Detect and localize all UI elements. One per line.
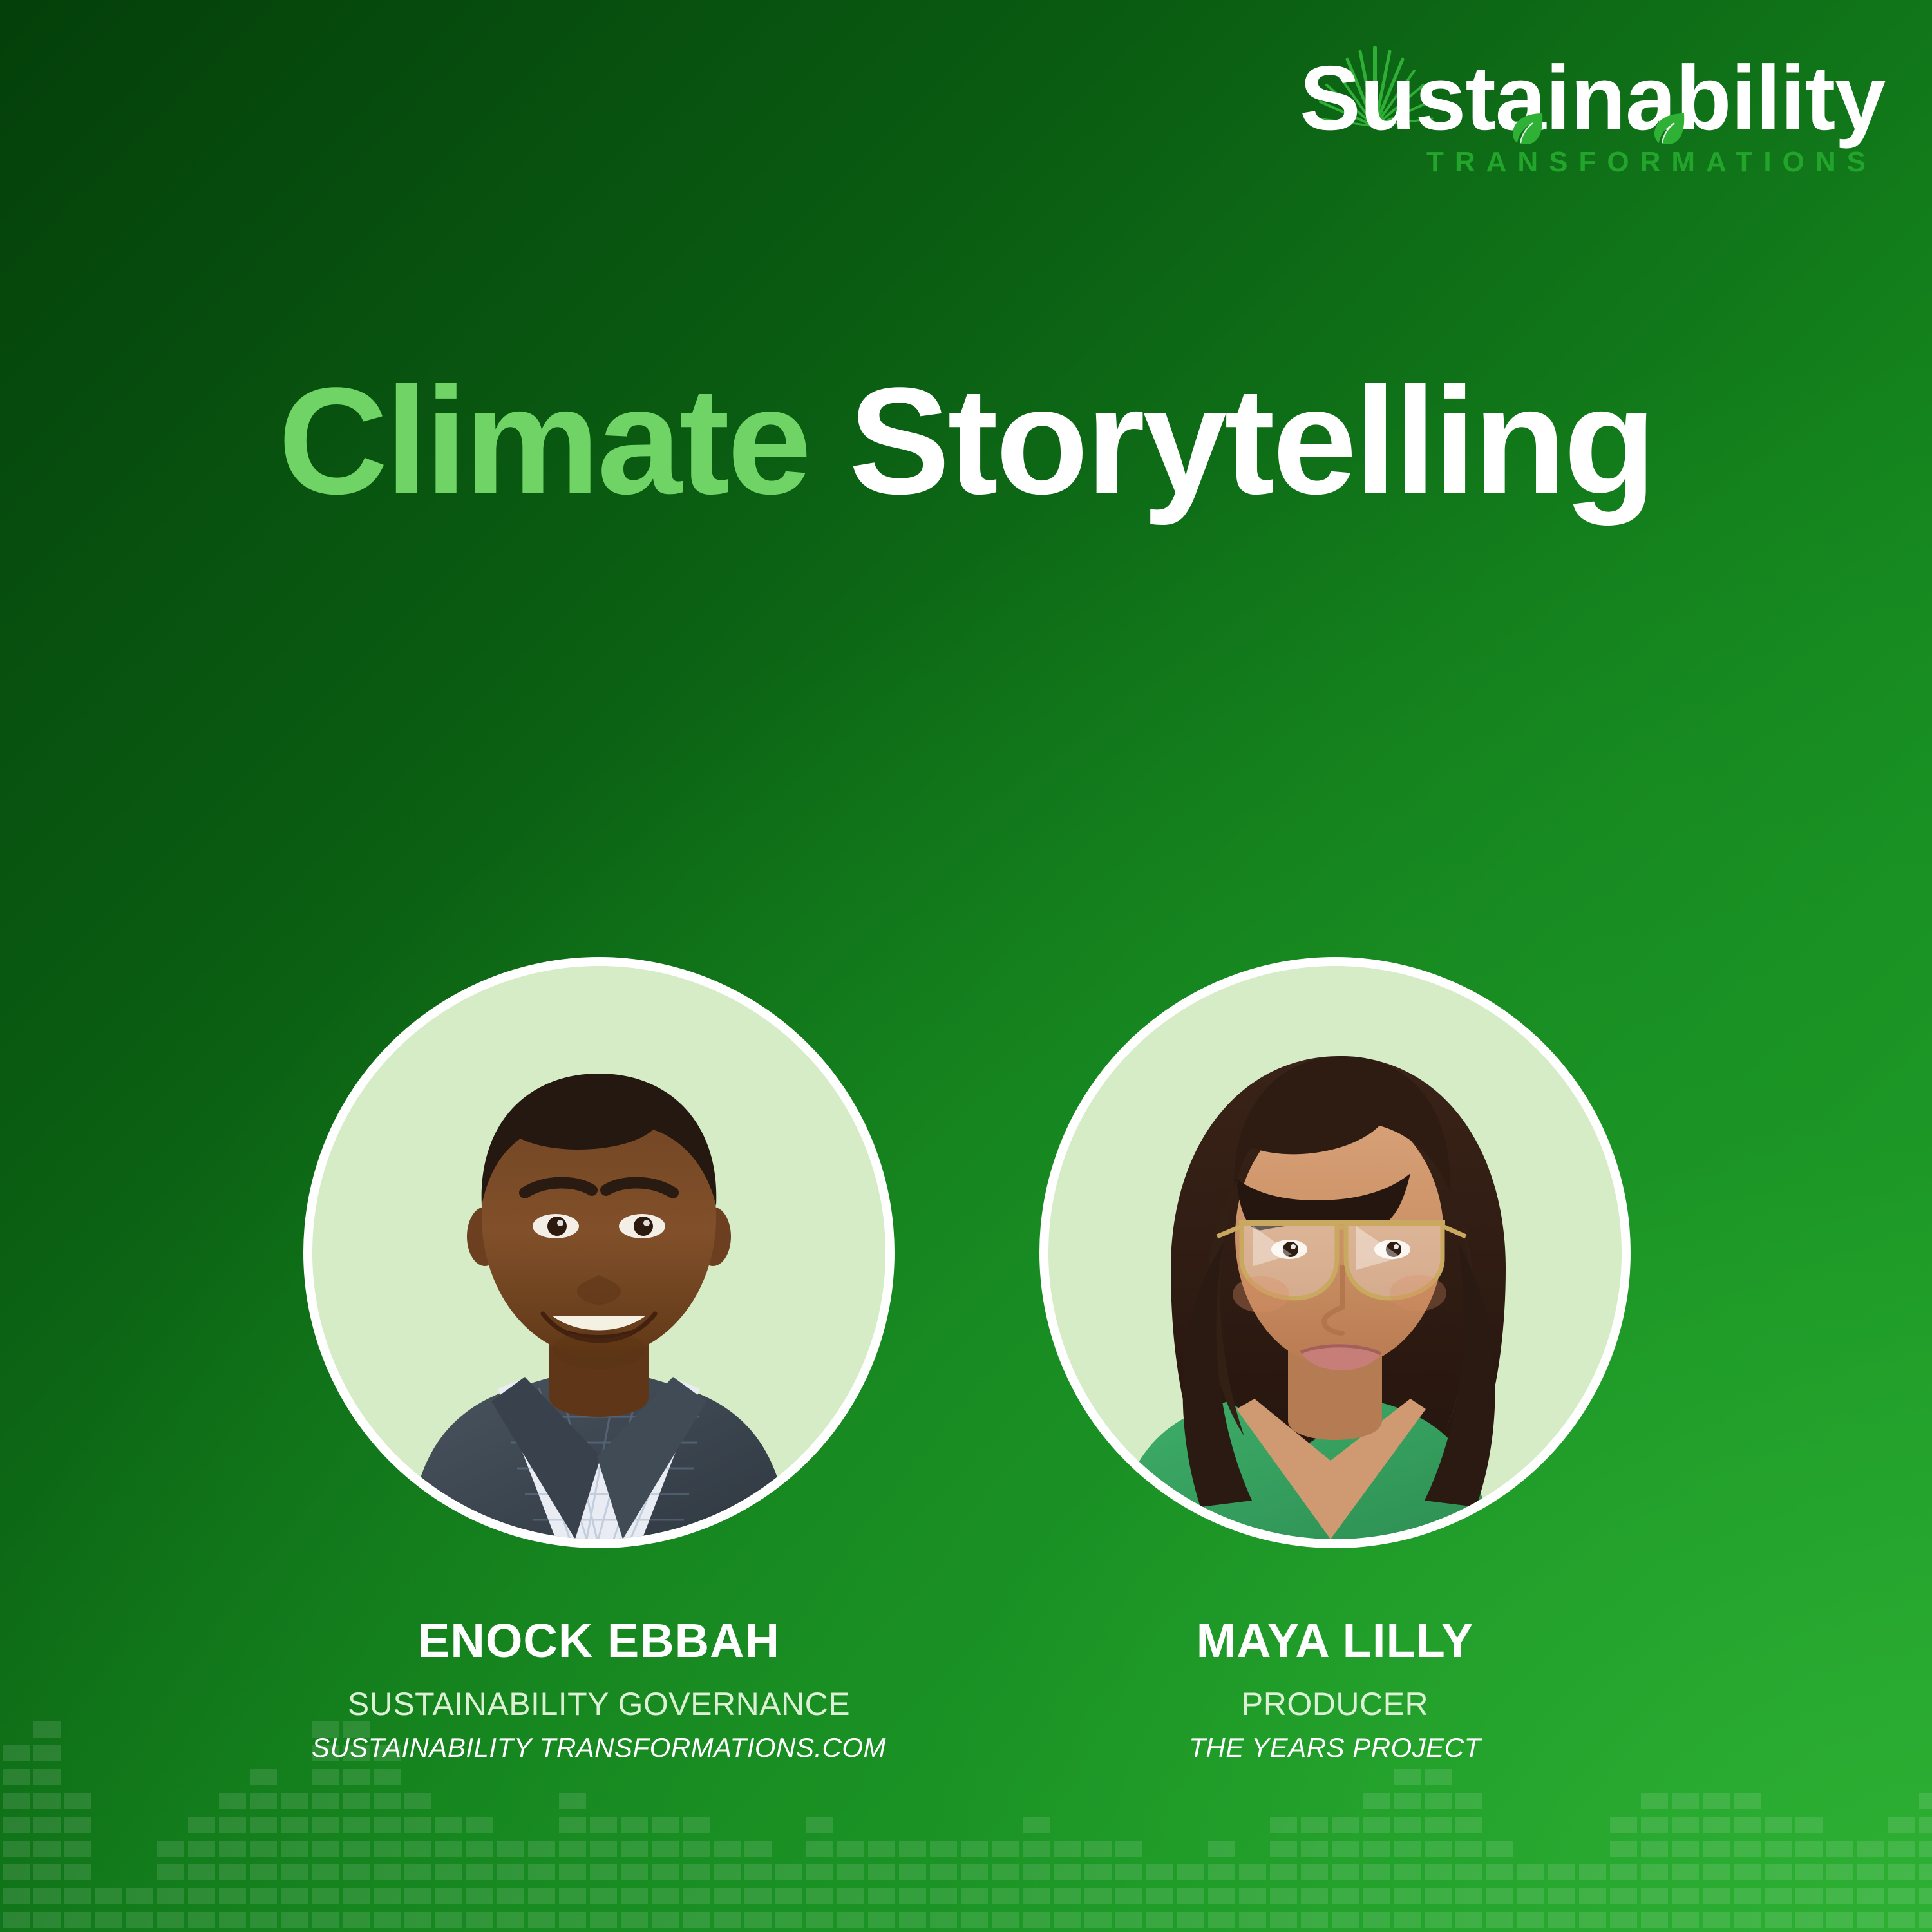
pixel-cell bbox=[1765, 1888, 1792, 1904]
pixel-cell bbox=[837, 1912, 864, 1928]
pixel-cell bbox=[1455, 1864, 1482, 1880]
pixel-cell bbox=[1394, 1769, 1421, 1785]
pixel-cell bbox=[961, 1912, 988, 1928]
pixel-cell bbox=[1826, 1912, 1853, 1928]
poster-canvas: Sustainability TRANSFORMATIONS Climate S… bbox=[0, 0, 1932, 1932]
pixel-cell bbox=[1425, 1793, 1452, 1809]
pixel-cell bbox=[188, 1912, 215, 1928]
pixel-cell bbox=[1425, 1817, 1452, 1833]
pixel-cell bbox=[1703, 1793, 1730, 1809]
title-accent-word: Climate bbox=[278, 356, 810, 526]
pixel-cell bbox=[1703, 1864, 1730, 1880]
pixel-cell bbox=[590, 1864, 617, 1880]
pixel-cell bbox=[404, 1864, 431, 1880]
pixel-cell bbox=[1363, 1912, 1390, 1928]
pixel-cell bbox=[1394, 1888, 1421, 1904]
pixel-cell bbox=[1672, 1793, 1699, 1809]
pixel-cell bbox=[1888, 1888, 1915, 1904]
pixel-cell bbox=[1672, 1888, 1699, 1904]
pixel-cell bbox=[1919, 1912, 1932, 1928]
pixel-cell bbox=[1208, 1888, 1235, 1904]
logo-wordmark: Sustainability bbox=[1300, 50, 1879, 147]
pixel-cell bbox=[1332, 1864, 1359, 1880]
pixel-cell bbox=[1455, 1912, 1482, 1928]
pixel-cell bbox=[1641, 1793, 1668, 1809]
pixel-cell bbox=[1548, 1888, 1575, 1904]
pixel-cell bbox=[1672, 1817, 1699, 1833]
pixel-cell bbox=[1641, 1841, 1668, 1857]
pixel-cell bbox=[281, 1793, 308, 1809]
pixel-cell bbox=[33, 1888, 61, 1904]
pixel-cell bbox=[1672, 1841, 1699, 1857]
pixel-cell bbox=[1425, 1864, 1452, 1880]
pixel-cell bbox=[1641, 1817, 1668, 1833]
pixel-cell bbox=[281, 1841, 308, 1857]
pixel-cell bbox=[1857, 1912, 1884, 1928]
pixel-cell bbox=[1857, 1841, 1884, 1857]
pixel-cell bbox=[33, 1793, 61, 1809]
pixel-cell bbox=[404, 1888, 431, 1904]
pixel-cell bbox=[126, 1912, 153, 1928]
pixel-cell bbox=[1023, 1817, 1050, 1833]
speaker-role: SUSTAINABILITY GOVERNANCE bbox=[277, 1686, 921, 1722]
pixel-cell bbox=[714, 1841, 741, 1857]
pixel-cell bbox=[1919, 1864, 1932, 1880]
pixel-cell bbox=[652, 1817, 679, 1833]
pixel-cell bbox=[992, 1912, 1019, 1928]
pixel-cell bbox=[1394, 1841, 1421, 1857]
pixel-cell bbox=[157, 1888, 184, 1904]
pixel-cell bbox=[930, 1912, 957, 1928]
pixel-cell bbox=[961, 1888, 988, 1904]
pixel-cell bbox=[1455, 1841, 1482, 1857]
title-plain-word: Storytelling bbox=[849, 356, 1654, 526]
pixel-cell bbox=[1363, 1817, 1390, 1833]
pixel-cell bbox=[1486, 1841, 1513, 1857]
pixel-cell bbox=[1270, 1888, 1297, 1904]
pixel-bar-pattern bbox=[0, 1719, 1932, 1932]
logo-subtitle: TRANSFORMATIONS bbox=[1300, 147, 1879, 178]
pixel-cell bbox=[1734, 1841, 1761, 1857]
pixel-cell bbox=[1919, 1817, 1932, 1833]
pixel-cell bbox=[33, 1841, 61, 1857]
pixel-cell bbox=[1208, 1912, 1235, 1928]
pixel-cell bbox=[374, 1912, 401, 1928]
avatar bbox=[312, 966, 885, 1539]
pixel-cell bbox=[1888, 1817, 1915, 1833]
pixel-cell bbox=[992, 1864, 1019, 1880]
pixel-cell bbox=[837, 1841, 864, 1857]
pixel-cell bbox=[652, 1864, 679, 1880]
pixel-cell bbox=[1301, 1912, 1328, 1928]
pixel-cell bbox=[1023, 1841, 1050, 1857]
pixel-cell bbox=[1023, 1912, 1050, 1928]
pixel-cell bbox=[621, 1841, 648, 1857]
pixel-cell bbox=[744, 1841, 772, 1857]
pixel-cell bbox=[961, 1841, 988, 1857]
pixel-cell bbox=[1239, 1864, 1266, 1880]
pixel-cell bbox=[1363, 1888, 1390, 1904]
pixel-cell bbox=[837, 1864, 864, 1880]
speaker-name: MAYA LILLY bbox=[1013, 1615, 1657, 1667]
pixel-cell bbox=[1115, 1841, 1142, 1857]
pixel-cell bbox=[1734, 1888, 1761, 1904]
speaker-card: MAYA LILLY PRODUCER THE YEARS PROJECT bbox=[1013, 966, 1657, 1763]
pixel-cell bbox=[1795, 1864, 1823, 1880]
pixel-cell bbox=[744, 1888, 772, 1904]
pixel-cell bbox=[250, 1864, 277, 1880]
pixel-cell bbox=[343, 1912, 370, 1928]
pixel-cell bbox=[1455, 1793, 1482, 1809]
pixel-cell bbox=[868, 1888, 895, 1904]
pixel-cell bbox=[1239, 1912, 1266, 1928]
pixel-cell bbox=[1394, 1817, 1421, 1833]
pixel-cell bbox=[683, 1841, 710, 1857]
pixel-cell bbox=[1208, 1841, 1235, 1857]
pixel-cell bbox=[683, 1864, 710, 1880]
pixel-cell bbox=[1765, 1912, 1792, 1928]
pixel-cell bbox=[64, 1888, 91, 1904]
pixel-cell bbox=[312, 1769, 339, 1785]
pixel-cell bbox=[621, 1912, 648, 1928]
pixel-cell bbox=[33, 1912, 61, 1928]
pixel-cell bbox=[1115, 1912, 1142, 1928]
speaker-name: ENOCK EBBAH bbox=[277, 1615, 921, 1667]
pixel-cell bbox=[1703, 1912, 1730, 1928]
pixel-cell bbox=[95, 1888, 122, 1904]
pixel-cell bbox=[466, 1912, 493, 1928]
pixel-cell bbox=[559, 1841, 586, 1857]
pixel-cell bbox=[374, 1745, 401, 1761]
pixel-cell bbox=[1332, 1912, 1359, 1928]
pixel-cell bbox=[1919, 1793, 1932, 1809]
pixel-cell bbox=[435, 1888, 462, 1904]
pixel-cell bbox=[899, 1888, 926, 1904]
pixel-cell bbox=[3, 1745, 30, 1761]
pixel-cell bbox=[1641, 1888, 1668, 1904]
pixel-cell bbox=[1332, 1841, 1359, 1857]
pixel-cell bbox=[1641, 1912, 1668, 1928]
pixel-cell bbox=[64, 1864, 91, 1880]
pixel-cell bbox=[466, 1841, 493, 1857]
pixel-cell bbox=[343, 1745, 370, 1761]
pixel-cell bbox=[590, 1888, 617, 1904]
pixel-cell bbox=[188, 1841, 215, 1857]
pixel-cell bbox=[312, 1912, 339, 1928]
speaker-photo-maya-lilly bbox=[1048, 966, 1622, 1539]
pixel-cell bbox=[312, 1745, 339, 1761]
pixel-cell bbox=[343, 1721, 370, 1738]
pixel-cell bbox=[1548, 1912, 1575, 1928]
pixel-cell bbox=[1177, 1864, 1204, 1880]
pixel-cell bbox=[1734, 1912, 1761, 1928]
pixel-cell bbox=[1115, 1864, 1142, 1880]
pixel-cell bbox=[1486, 1864, 1513, 1880]
pixel-cell bbox=[281, 1864, 308, 1880]
pixel-cell bbox=[404, 1841, 431, 1857]
pixel-cell bbox=[930, 1888, 957, 1904]
pixel-cell bbox=[3, 1888, 30, 1904]
pixel-cell bbox=[1888, 1841, 1915, 1857]
pixel-cell bbox=[806, 1841, 833, 1857]
pixel-cell bbox=[1826, 1841, 1853, 1857]
pixel-cell bbox=[1795, 1912, 1823, 1928]
pixel-cell bbox=[1084, 1841, 1112, 1857]
page-title: Climate Storytelling bbox=[0, 361, 1932, 522]
pixel-cell bbox=[64, 1817, 91, 1833]
pixel-cell bbox=[559, 1864, 586, 1880]
pixel-cell bbox=[621, 1817, 648, 1833]
pixel-cell bbox=[621, 1888, 648, 1904]
pixel-cell bbox=[1301, 1841, 1328, 1857]
pixel-cell bbox=[374, 1769, 401, 1785]
speaker-card: ENOCK EBBAH SUSTAINABILITY GOVERNANCE SU… bbox=[277, 966, 921, 1763]
pixel-cell bbox=[466, 1864, 493, 1880]
pixel-cell bbox=[219, 1841, 246, 1857]
pixel-cell bbox=[1610, 1888, 1637, 1904]
pixel-cell bbox=[1795, 1888, 1823, 1904]
pixel-cell bbox=[343, 1841, 370, 1857]
pixel-cell bbox=[1363, 1793, 1390, 1809]
pixel-cell bbox=[1734, 1793, 1761, 1809]
pixel-cell bbox=[1146, 1888, 1173, 1904]
pixel-cell bbox=[744, 1864, 772, 1880]
speaker-photo-enock-ebbah bbox=[312, 966, 885, 1539]
pixel-cell bbox=[1703, 1817, 1730, 1833]
pixel-cell bbox=[1023, 1888, 1050, 1904]
pixel-cell bbox=[590, 1912, 617, 1928]
pixel-cell bbox=[528, 1864, 555, 1880]
pixel-cell bbox=[126, 1888, 153, 1904]
pixel-cell bbox=[312, 1888, 339, 1904]
pixel-cell bbox=[868, 1841, 895, 1857]
pixel-cell bbox=[559, 1888, 586, 1904]
speaker-role: PRODUCER bbox=[1013, 1686, 1657, 1722]
pixel-cell bbox=[559, 1817, 586, 1833]
pixel-cell bbox=[33, 1721, 61, 1738]
pixel-cell bbox=[1610, 1817, 1637, 1833]
pixel-cell bbox=[343, 1817, 370, 1833]
pixel-cell bbox=[1332, 1888, 1359, 1904]
pixel-cell bbox=[219, 1817, 246, 1833]
pixel-cell bbox=[404, 1817, 431, 1833]
pixel-cell bbox=[1486, 1888, 1513, 1904]
pixel-cell bbox=[1146, 1864, 1173, 1880]
pixel-cell bbox=[466, 1888, 493, 1904]
pixel-cell bbox=[250, 1793, 277, 1809]
pixel-cell bbox=[1919, 1841, 1932, 1857]
pixel-cell bbox=[250, 1888, 277, 1904]
pixel-cell bbox=[559, 1912, 586, 1928]
pixel-cell bbox=[899, 1912, 926, 1928]
pixel-cell bbox=[312, 1793, 339, 1809]
pixel-cell bbox=[281, 1888, 308, 1904]
pixel-cell bbox=[1765, 1841, 1792, 1857]
pixel-cell bbox=[3, 1793, 30, 1809]
pixel-cell bbox=[652, 1888, 679, 1904]
pixel-cell bbox=[1548, 1864, 1575, 1880]
pixel-cell bbox=[1084, 1912, 1112, 1928]
pixel-cell bbox=[374, 1817, 401, 1833]
pixel-cell bbox=[3, 1817, 30, 1833]
pixel-cell bbox=[868, 1912, 895, 1928]
pixel-cell bbox=[157, 1912, 184, 1928]
pixel-cell bbox=[312, 1721, 339, 1738]
pixel-cell bbox=[1826, 1864, 1853, 1880]
brand-logo: Sustainability TRANSFORMATIONS bbox=[1300, 50, 1879, 198]
pixel-cell bbox=[1301, 1864, 1328, 1880]
pixel-cell bbox=[961, 1864, 988, 1880]
pixel-cell bbox=[992, 1888, 1019, 1904]
pixel-cell bbox=[1734, 1817, 1761, 1833]
pixel-cell bbox=[219, 1912, 246, 1928]
pixel-cell bbox=[1703, 1841, 1730, 1857]
pixel-cell bbox=[250, 1817, 277, 1833]
pixel-cell bbox=[868, 1864, 895, 1880]
pixel-cell bbox=[559, 1793, 586, 1809]
pixel-cell bbox=[1084, 1888, 1112, 1904]
pixel-cell bbox=[1270, 1817, 1297, 1833]
pixel-cell bbox=[1394, 1912, 1421, 1928]
pixel-cell bbox=[992, 1841, 1019, 1857]
pixel-cell bbox=[899, 1864, 926, 1880]
pixel-cell bbox=[1734, 1864, 1761, 1880]
pixel-cell bbox=[1146, 1912, 1173, 1928]
pixel-cell bbox=[374, 1841, 401, 1857]
pixel-cell bbox=[188, 1864, 215, 1880]
pixel-cell bbox=[1332, 1817, 1359, 1833]
pixel-cell bbox=[281, 1817, 308, 1833]
pixel-cell bbox=[435, 1841, 462, 1857]
pixel-cell bbox=[930, 1841, 957, 1857]
pixel-cell bbox=[1610, 1864, 1637, 1880]
pixel-cell bbox=[374, 1888, 401, 1904]
pixel-cell bbox=[188, 1817, 215, 1833]
pixel-cell bbox=[250, 1769, 277, 1785]
pixel-cell bbox=[1765, 1864, 1792, 1880]
pixel-cell bbox=[528, 1912, 555, 1928]
pixel-cell bbox=[1672, 1864, 1699, 1880]
pixel-cell bbox=[652, 1841, 679, 1857]
pixel-cell bbox=[33, 1745, 61, 1761]
pixel-cell bbox=[95, 1912, 122, 1928]
pixel-cell bbox=[157, 1841, 184, 1857]
pixel-cell bbox=[343, 1864, 370, 1880]
pixel-cell bbox=[374, 1864, 401, 1880]
pixel-cell bbox=[1579, 1888, 1606, 1904]
pixel-cell bbox=[1610, 1912, 1637, 1928]
pixel-cell bbox=[312, 1841, 339, 1857]
avatar bbox=[1048, 966, 1622, 1539]
pixel-cell bbox=[1610, 1841, 1637, 1857]
pixel-cell bbox=[1919, 1888, 1932, 1904]
pixel-cell bbox=[806, 1817, 833, 1833]
pixel-cell bbox=[1270, 1864, 1297, 1880]
pixel-cell bbox=[1455, 1888, 1482, 1904]
pixel-cell bbox=[1301, 1888, 1328, 1904]
pixel-cell bbox=[435, 1864, 462, 1880]
pixel-cell bbox=[188, 1888, 215, 1904]
pixel-cell bbox=[1270, 1841, 1297, 1857]
pixel-cell bbox=[683, 1817, 710, 1833]
pixel-cell bbox=[343, 1888, 370, 1904]
pixel-cell bbox=[1054, 1864, 1081, 1880]
pixel-cell bbox=[714, 1912, 741, 1928]
pixel-cell bbox=[1703, 1888, 1730, 1904]
pixel-cell bbox=[312, 1817, 339, 1833]
pixel-cell bbox=[1270, 1912, 1297, 1928]
pixel-cell bbox=[64, 1912, 91, 1928]
pixel-cell bbox=[621, 1864, 648, 1880]
pixel-cell bbox=[930, 1864, 957, 1880]
pixel-cell bbox=[3, 1841, 30, 1857]
pixel-cell bbox=[1579, 1912, 1606, 1928]
pixel-cell bbox=[343, 1769, 370, 1785]
pixel-cell bbox=[775, 1888, 802, 1904]
pixel-cell bbox=[683, 1888, 710, 1904]
pixel-cell bbox=[219, 1888, 246, 1904]
pixel-cell bbox=[1394, 1793, 1421, 1809]
pixel-cell bbox=[157, 1864, 184, 1880]
pixel-cell bbox=[435, 1817, 462, 1833]
pixel-cell bbox=[1517, 1912, 1544, 1928]
pixel-cell bbox=[1795, 1841, 1823, 1857]
pixel-cell bbox=[33, 1817, 61, 1833]
pixel-cell bbox=[837, 1888, 864, 1904]
pixel-cell bbox=[683, 1912, 710, 1928]
pixel-cell bbox=[404, 1793, 431, 1809]
pixel-cell bbox=[1054, 1912, 1081, 1928]
pixel-cell bbox=[1363, 1841, 1390, 1857]
pixel-cell bbox=[250, 1912, 277, 1928]
pixel-cell bbox=[1517, 1864, 1544, 1880]
pixel-cell bbox=[714, 1888, 741, 1904]
pixel-cell bbox=[590, 1817, 617, 1833]
pixel-cell bbox=[1054, 1841, 1081, 1857]
pixel-cell bbox=[899, 1841, 926, 1857]
pixel-cell bbox=[1084, 1864, 1112, 1880]
pixel-cell bbox=[1425, 1912, 1452, 1928]
pixel-cell bbox=[1177, 1912, 1204, 1928]
pixel-cell bbox=[652, 1912, 679, 1928]
pixel-cell bbox=[343, 1793, 370, 1809]
pixel-cell bbox=[312, 1864, 339, 1880]
pixel-cell bbox=[1826, 1888, 1853, 1904]
pixel-cell bbox=[1023, 1864, 1050, 1880]
pixel-cell bbox=[1239, 1888, 1266, 1904]
pixel-cell bbox=[806, 1888, 833, 1904]
pixel-cell bbox=[806, 1864, 833, 1880]
pixel-cell bbox=[714, 1864, 741, 1880]
pixel-cell bbox=[33, 1769, 61, 1785]
pixel-cell bbox=[250, 1841, 277, 1857]
pixel-cell bbox=[3, 1912, 30, 1928]
pixel-cell bbox=[219, 1864, 246, 1880]
pixel-cell bbox=[775, 1864, 802, 1880]
pixel-cell bbox=[1672, 1912, 1699, 1928]
pixel-cell bbox=[528, 1841, 555, 1857]
pixel-cell bbox=[1301, 1817, 1328, 1833]
pixel-cell bbox=[3, 1864, 30, 1880]
pixel-cell bbox=[1517, 1888, 1544, 1904]
pixel-cell bbox=[1208, 1864, 1235, 1880]
pixel-cell bbox=[281, 1912, 308, 1928]
pixel-cell bbox=[1486, 1912, 1513, 1928]
pixel-cell bbox=[64, 1841, 91, 1857]
pixel-cell bbox=[497, 1912, 524, 1928]
pixel-cell bbox=[497, 1888, 524, 1904]
pixel-cell bbox=[1857, 1864, 1884, 1880]
